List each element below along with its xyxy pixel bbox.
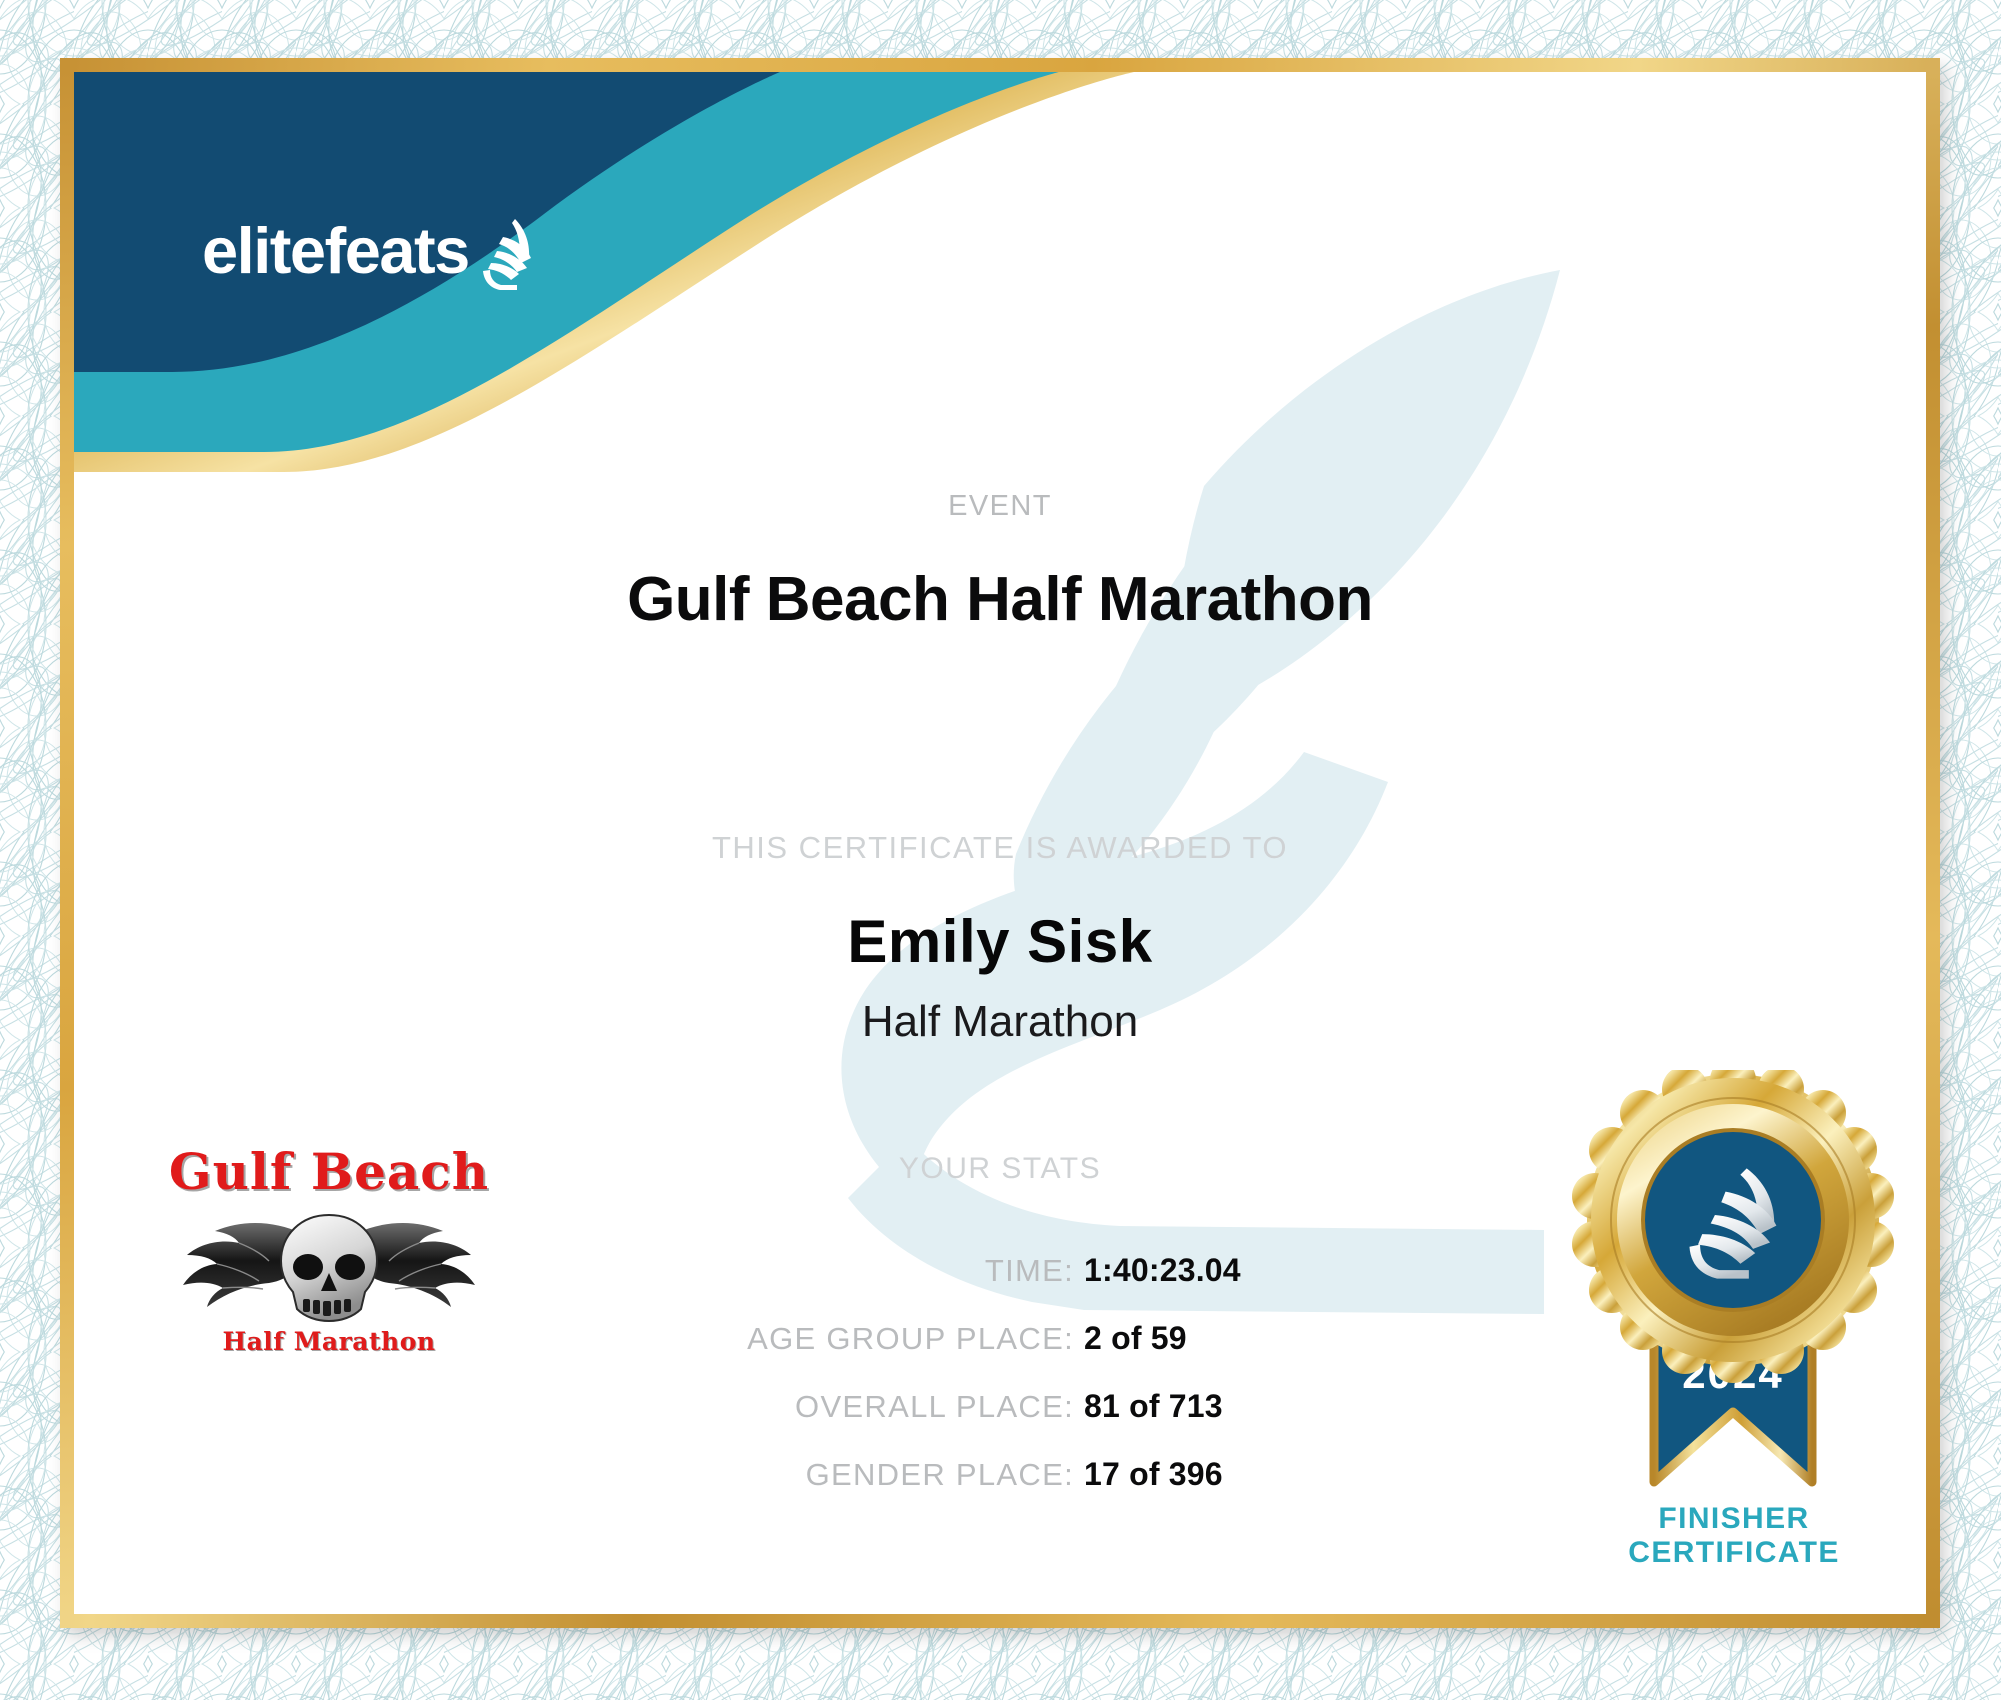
stat-key: TIME: — [985, 1253, 1074, 1289]
recipient-name: Emily Sisk — [74, 907, 1926, 976]
medal-caption: FINISHER CERTIFICATE — [1554, 1502, 1914, 1569]
certificate-page: elitefeats EVENT Gulf Beach Half Maratho… — [0, 0, 2001, 1700]
race-logo-top-text: Gulf Beach — [164, 1147, 494, 1197]
race-logo: Gulf Beach — [164, 1147, 494, 1407]
stat-value: 2 of 59 — [1084, 1320, 1264, 1357]
awarded-to-label: THIS CERTIFICATE IS AWARDED TO — [74, 830, 1926, 866]
medal-caption-line2: CERTIFICATE — [1554, 1536, 1914, 1570]
medal-caption-line1: FINISHER — [1554, 1502, 1914, 1536]
race-logo-bottom-text: Half Marathon — [164, 1329, 494, 1354]
recipient-division: Half Marathon — [74, 997, 1926, 1047]
finisher-medal-badge: 2024 — [1568, 1070, 1898, 1510]
elitefeats-wordmark: elitefeats — [202, 218, 469, 283]
event-label: EVENT — [74, 490, 1926, 523]
stat-key: AGE GROUP PLACE: — [747, 1321, 1074, 1357]
stats-table: TIME: 1:40:23.04 AGE GROUP PLACE: 2 of 5… — [504, 1252, 1264, 1524]
stat-key: GENDER PLACE: — [806, 1457, 1074, 1493]
winged-skull-icon — [169, 1199, 489, 1327]
stat-row-time: TIME: 1:40:23.04 — [504, 1252, 1264, 1296]
stat-row-overall-place: OVERALL PLACE: 81 of 713 — [504, 1388, 1264, 1432]
stat-row-gender-place: GENDER PLACE: 17 of 396 — [504, 1456, 1264, 1500]
stat-value: 17 of 396 — [1084, 1456, 1264, 1493]
stat-key: OVERALL PLACE: — [795, 1389, 1074, 1425]
stat-value: 81 of 713 — [1084, 1388, 1264, 1425]
certificate-body: elitefeats EVENT Gulf Beach Half Maratho… — [74, 72, 1926, 1614]
stat-value: 1:40:23.04 — [1084, 1252, 1264, 1289]
elitefeats-logo: elitefeats — [202, 204, 592, 296]
event-title: Gulf Beach Half Marathon — [74, 564, 1926, 635]
stat-row-age-group-place: AGE GROUP PLACE: 2 of 59 — [504, 1320, 1264, 1364]
winged-foot-icon — [471, 213, 545, 293]
